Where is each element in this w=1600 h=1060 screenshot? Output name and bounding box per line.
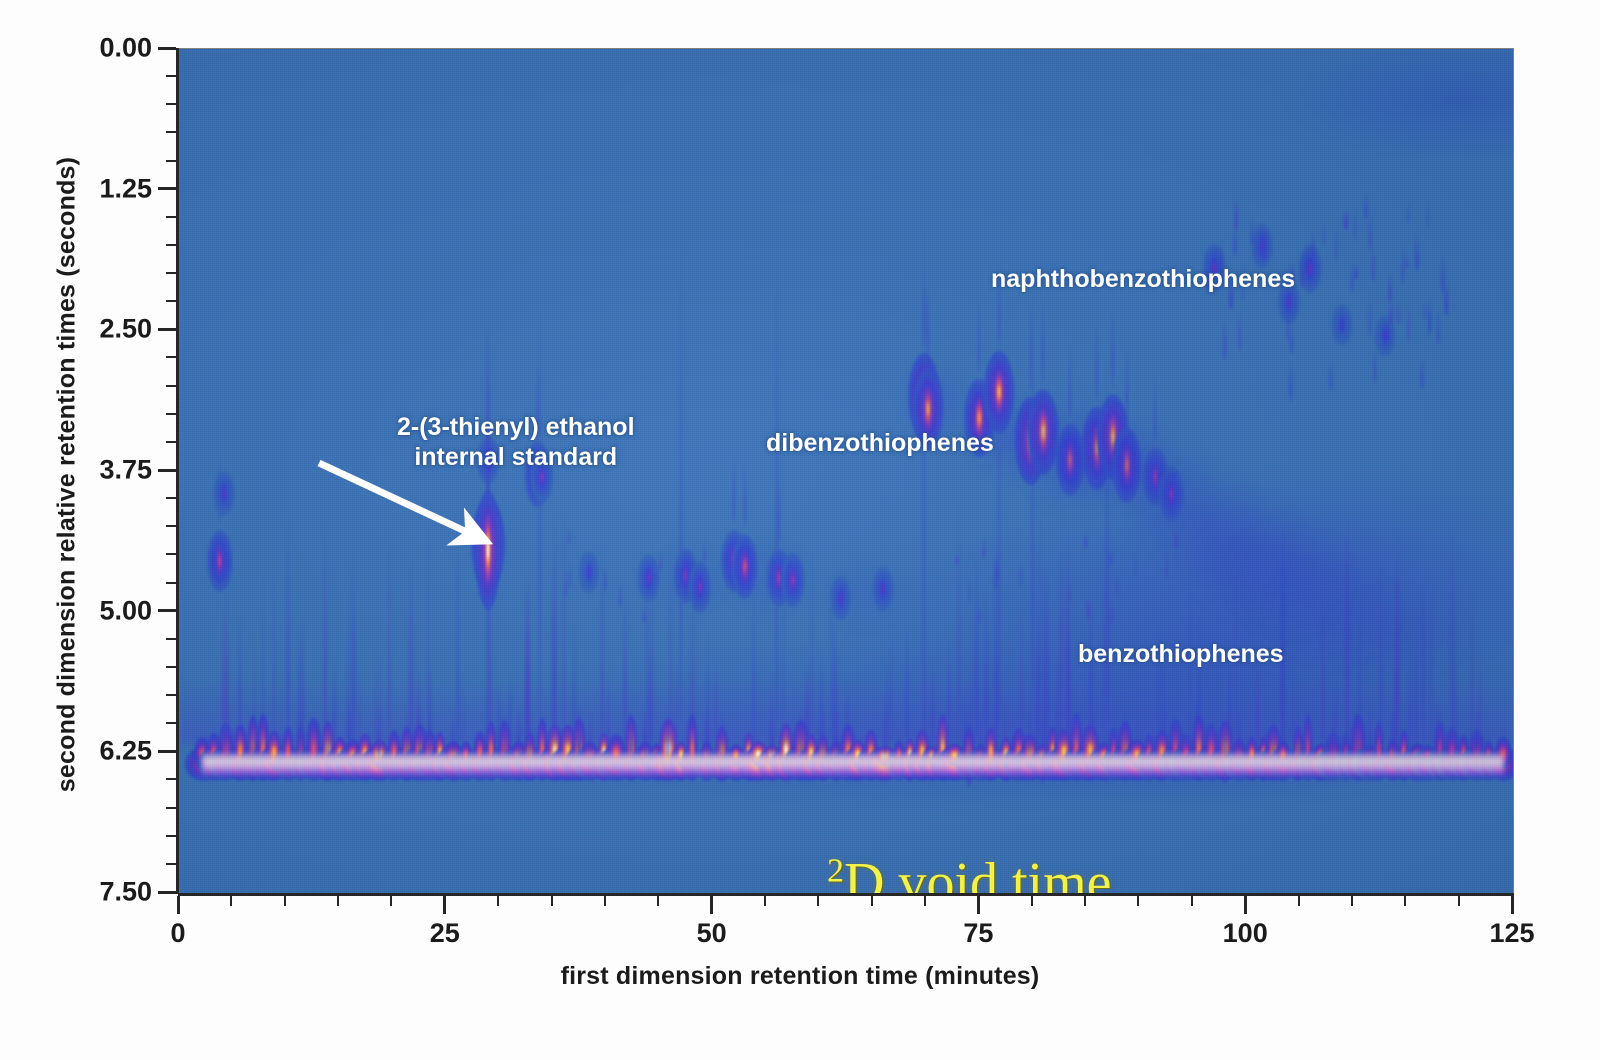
void-band-peak-base	[1253, 747, 1275, 781]
peak-tail-streak	[975, 542, 979, 750]
peak-tail-streak	[1028, 705, 1032, 769]
void-band-peak-base	[1297, 747, 1318, 781]
analyte-peak	[1258, 231, 1267, 261]
peak-tail-streak	[261, 566, 264, 750]
void-band-peak-base	[257, 747, 291, 781]
void-band-peak	[743, 732, 754, 770]
x-axis-minor-tick	[551, 896, 553, 906]
void-band-peak-base	[1304, 747, 1337, 781]
annotation-internal-standard: 2-(3-thienyl) ethanol internal standard	[397, 413, 635, 472]
peak-tail-streak	[1423, 299, 1427, 320]
void-band-peak-base	[1118, 747, 1156, 781]
peak-tail-streak	[485, 668, 489, 750]
peak-tail-streak	[1219, 241, 1223, 273]
peak-tail-streak	[1107, 493, 1111, 750]
peak-tail-streak	[553, 512, 556, 751]
peak-tail-streak	[1223, 706, 1228, 784]
peak-tail-streak	[963, 685, 967, 750]
peak-tail-streak	[1373, 349, 1376, 383]
x-axis-minor-tick	[337, 896, 339, 906]
void-band-peak	[1374, 721, 1384, 775]
peak-tail-streak	[997, 264, 1000, 344]
x-axis-tick-label: 0	[170, 918, 185, 949]
analyte-peak-halo	[524, 442, 551, 507]
peak-tail-streak	[882, 709, 886, 771]
peak-tail-streak	[1290, 261, 1295, 287]
void-band-peak-base	[1458, 747, 1495, 781]
analyte-peak-halo	[213, 471, 235, 516]
x-axis-minor-tick	[1031, 896, 1033, 906]
unresolved-cluster-blob	[902, 363, 972, 443]
peak-tail-streak	[1115, 572, 1118, 594]
analyte-peak-halo	[477, 436, 500, 484]
peak-tail-streak	[770, 658, 774, 750]
void-band-peak	[598, 732, 610, 771]
void-band-peak	[1458, 735, 1470, 770]
void-band-peak	[687, 714, 698, 778]
void-band-peak-base	[842, 747, 874, 781]
unresolved-cluster-blob	[1262, 557, 1402, 667]
void-band-peak-base	[1240, 747, 1263, 781]
peak-tail-streak	[810, 543, 814, 750]
y-axis-minor-tick	[166, 778, 176, 780]
analyte-peak	[584, 559, 593, 587]
peak-tail-streak	[1281, 514, 1285, 750]
figure-container: 2-(3-thienyl) ethanol internal standard …	[0, 0, 1600, 1060]
peak-tail-streak	[1109, 548, 1112, 565]
y-axis-major-tick	[158, 750, 176, 753]
void-band-peak-base	[489, 747, 520, 781]
void-band-peak-base	[1224, 747, 1254, 781]
analyte-peak	[1106, 409, 1119, 466]
peak-tail-streak	[416, 656, 420, 750]
void-band-peak-base	[758, 747, 786, 781]
void-band-peak-base	[994, 747, 1019, 781]
void-time-text: D void time	[844, 852, 1112, 894]
peak-tail-streak	[607, 675, 610, 750]
peak-tail-streak	[221, 609, 224, 751]
void-band-peak	[1361, 744, 1378, 766]
peak-tail-streak	[226, 626, 229, 750]
peak-tail-streak	[1478, 643, 1481, 750]
void-band-peak	[1232, 737, 1246, 769]
peak-tail-streak	[1083, 532, 1088, 548]
void-band-peak	[893, 740, 904, 767]
void-band-peak-base	[1486, 747, 1514, 781]
peak-tail-streak	[922, 219, 925, 724]
void-band-peak-base	[1102, 747, 1126, 781]
peak-tail-streak	[666, 706, 670, 769]
peak-tail-streak	[1019, 561, 1023, 587]
analyte-peak	[836, 583, 845, 613]
peak-tail-streak	[1393, 638, 1397, 750]
void-time-band	[179, 702, 1513, 798]
void-band-peak-base	[833, 747, 864, 781]
peak-tail-streak	[1069, 343, 1072, 417]
y-axis-minor-tick	[166, 413, 176, 415]
unresolved-cluster-blob	[1224, 518, 1354, 638]
annotation-internal-standard-line1: 2-(3-thienyl) ethanol	[397, 413, 635, 441]
analyte-peak	[537, 459, 547, 493]
void-band-peak-base	[1315, 747, 1351, 781]
void-band-peak-base	[1014, 747, 1047, 781]
void-band-peak-base	[1341, 747, 1374, 781]
peak-tail-streak	[1045, 559, 1048, 750]
x-axis-major-tick	[1511, 896, 1514, 914]
unresolved-cluster-blob	[1321, 584, 1471, 684]
y-axis-minor-tick	[166, 216, 176, 218]
peak-tail-streak	[1038, 492, 1041, 750]
analyte-peak	[739, 545, 750, 589]
peak-tail-streak	[805, 664, 809, 750]
void-band-peak	[422, 730, 438, 772]
peak-tail-streak	[686, 553, 691, 585]
analyte-peak	[917, 367, 930, 424]
void-band-peak-base	[564, 747, 593, 781]
y-axis-minor-tick	[166, 835, 176, 837]
void-band-peak	[1117, 721, 1132, 776]
void-band-peak	[473, 731, 486, 771]
peak-tail-streak	[577, 705, 582, 761]
peak-tail-streak	[572, 620, 576, 750]
void-band-peak	[266, 731, 282, 772]
peak-tail-streak	[429, 654, 432, 750]
analyte-peak-halo	[731, 534, 758, 599]
internal-standard-peak	[483, 507, 493, 593]
peak-tail-streak	[978, 294, 981, 372]
analyte-peak-halo	[1332, 304, 1353, 345]
void-band-peak-base	[782, 747, 820, 781]
peak-tail-streak	[845, 679, 849, 750]
peak-tail-streak	[1367, 709, 1371, 771]
peak-tail-streak	[238, 609, 242, 750]
peak-tail-streak	[1042, 300, 1045, 382]
analyte-peak	[774, 558, 785, 597]
x-axis-minor-tick	[497, 896, 499, 906]
unresolved-cluster-blob	[651, 543, 731, 613]
void-band-peak-base	[1040, 747, 1066, 781]
peak-tail-streak	[509, 670, 512, 751]
analyte-peak-halo	[637, 554, 660, 602]
void-band-peak-base	[435, 747, 472, 781]
void-band-peak	[1143, 734, 1155, 770]
peak-tail-streak	[714, 652, 718, 751]
peak-tail-streak	[408, 552, 413, 750]
peak-tail-streak	[1157, 617, 1162, 750]
void-band-peak	[460, 741, 472, 767]
peak-tail-streak	[645, 555, 648, 750]
x-axis-major-tick	[977, 896, 980, 914]
x-axis-minor-tick	[390, 896, 392, 906]
void-band-peak-base	[290, 747, 312, 781]
void-band-peak-base	[630, 747, 661, 781]
peak-tail-streak	[979, 708, 982, 774]
peak-tail-streak	[405, 709, 409, 771]
peak-tail-streak	[1233, 227, 1237, 256]
void-band-peak-base	[1195, 747, 1228, 781]
chromatogram-plot-area[interactable]: 2-(3-thienyl) ethanol internal standard …	[178, 48, 1514, 894]
void-band-peak	[1022, 734, 1038, 770]
peak-tail-streak	[997, 302, 1000, 724]
peak-tail-streak	[1296, 708, 1300, 777]
peak-tail-streak	[272, 562, 275, 750]
x-axis-minor-tick	[1084, 896, 1086, 906]
analyte-peak-halo	[780, 553, 804, 608]
void-band-peak	[388, 730, 401, 772]
void-band-peak-base	[809, 747, 835, 781]
peak-tail-streak	[1222, 317, 1227, 361]
peak-tail-streak	[299, 707, 303, 763]
peak-tail-streak	[1335, 677, 1338, 751]
y-axis-minor-tick	[166, 807, 176, 809]
analyte-peak	[1024, 411, 1038, 471]
peak-tail-streak	[781, 540, 784, 750]
void-band-peak-base	[956, 747, 982, 781]
peak-tail-streak	[983, 538, 986, 559]
y-axis-minor-tick	[166, 160, 176, 162]
peak-tail-streak	[1328, 359, 1332, 392]
void-band-peak	[779, 724, 794, 775]
void-band-peak-base	[966, 747, 995, 781]
peak-tail-streak	[250, 709, 255, 780]
peak-tail-streak	[1262, 222, 1267, 261]
peak-tail-streak	[619, 581, 622, 607]
void-band-peak	[1293, 726, 1303, 774]
peak-tail-streak	[323, 515, 327, 750]
void-band-peak	[247, 716, 259, 778]
peak-tail-streak	[1290, 325, 1294, 354]
vignette-overlay	[179, 49, 1513, 893]
void-band-peak	[1203, 723, 1219, 774]
peak-tail-streak	[820, 649, 823, 750]
void-band-peak	[864, 729, 878, 772]
peak-tail-streak	[286, 515, 291, 751]
analyte-peak-halo	[1203, 244, 1226, 292]
void-band-peak	[915, 729, 929, 772]
void-band-peak-base	[296, 747, 331, 781]
unresolved-cluster-blob	[817, 560, 907, 630]
void-time-band-layer	[179, 49, 1513, 893]
void-band-peak	[974, 745, 988, 767]
peak-tail-streak	[1090, 679, 1094, 750]
x-axis-minor-tick	[230, 896, 232, 906]
void-band-peak	[765, 744, 778, 766]
void-band-peak-base	[1136, 747, 1161, 781]
peak-tail-streak	[526, 584, 530, 751]
peak-tail-streak	[995, 638, 999, 750]
analyte-peak-halo	[1014, 396, 1047, 486]
void-band-peak-base	[466, 747, 494, 781]
void-band-peak	[1070, 713, 1083, 779]
analyte-peak-halo	[872, 567, 894, 612]
y-axis-tick-label: 0.00	[40, 33, 152, 64]
peak-tail-streak	[601, 538, 604, 751]
y-axis-major-tick	[158, 328, 176, 331]
x-axis-minor-tick	[657, 896, 659, 906]
peak-tail-streak	[969, 603, 973, 750]
void-band-peak	[905, 739, 915, 769]
peak-tail-streak	[707, 628, 710, 750]
void-band-peak	[875, 746, 893, 766]
x-axis-tick-label: 125	[1489, 918, 1534, 949]
peak-tail-streak	[1414, 233, 1419, 271]
void-band-peak	[1350, 713, 1366, 778]
peak-tail-streak	[1208, 266, 1212, 293]
y-axis-tick-label: 7.50	[40, 877, 152, 908]
y-axis-minor-tick	[166, 525, 176, 527]
peak-tail-streak	[1197, 672, 1202, 750]
void-band-peak-base	[695, 747, 719, 781]
peak-tail-streak	[1125, 345, 1128, 421]
peak-tail-streak	[1300, 256, 1304, 288]
y-axis-major-tick	[158, 609, 176, 612]
void-band-peak	[306, 718, 323, 777]
peak-tail-streak	[603, 565, 607, 593]
void-band-peak-base	[1063, 747, 1089, 781]
peak-tail-streak	[1067, 570, 1071, 750]
void-band-peak	[816, 735, 829, 770]
peak-tail-streak	[1354, 262, 1359, 280]
peak-tail-streak	[968, 575, 972, 604]
peak-tail-streak	[332, 653, 337, 750]
void-band-peak-base	[1001, 747, 1036, 781]
peak-tail-streak	[1450, 514, 1454, 750]
void-band-peak	[1483, 739, 1494, 768]
peak-tail-streak	[1436, 308, 1440, 344]
x-axis-tick-label: 100	[1223, 918, 1268, 949]
peak-tail-streak	[497, 683, 501, 750]
peak-tail-streak	[1428, 293, 1432, 336]
y-axis-minor-tick	[166, 385, 176, 387]
peak-tail-streak	[1420, 358, 1424, 388]
analyte-peak	[681, 557, 691, 594]
void-band-peak	[962, 726, 975, 773]
analyte-peak	[1166, 475, 1176, 512]
analyte-peak-halo	[908, 353, 940, 439]
peak-tail-streak	[1395, 558, 1399, 750]
peak-tail-streak	[1031, 266, 1034, 724]
void-band-peak	[343, 739, 361, 769]
void-band-peak	[651, 743, 663, 767]
y-axis-minor-tick	[166, 863, 176, 865]
void-band-peak-base	[856, 747, 886, 781]
peak-tail-streak	[325, 704, 330, 776]
void-band-peak	[400, 727, 413, 773]
y-axis-minor-tick	[166, 666, 176, 668]
peak-tail-streak	[1061, 501, 1064, 751]
void-band-peak	[792, 719, 810, 776]
analyte-peak-halo	[207, 530, 233, 592]
void-band-peak	[1246, 736, 1257, 769]
analyte-peak-halo	[1081, 407, 1112, 490]
peak-tail-streak	[705, 704, 710, 772]
peak-tail-streak	[800, 705, 803, 777]
peak-tail-streak	[689, 618, 692, 750]
analyte-peak-halo	[983, 351, 1014, 434]
peak-tail-streak	[947, 634, 950, 750]
void-band-peak	[1010, 728, 1026, 772]
void-band-peak	[1178, 733, 1195, 770]
void-band-peak-base	[359, 747, 398, 781]
void-band-peak	[607, 734, 626, 770]
peak-tail-streak	[347, 584, 350, 751]
void-band-peak-base	[1477, 747, 1499, 781]
peak-tail-streak	[1174, 529, 1178, 548]
void-band-peak	[411, 725, 428, 774]
y-axis-minor-tick	[166, 582, 176, 584]
void-band-peak	[1096, 742, 1111, 766]
peak-tail-streak	[358, 663, 361, 750]
peak-tail-streak	[460, 670, 464, 751]
x-axis-minor-tick	[604, 896, 606, 906]
unresolved-cluster-blob	[1063, 410, 1173, 510]
peak-tail-streak	[301, 608, 305, 750]
peak-tail-streak	[1162, 661, 1166, 750]
analyte-peak	[1338, 311, 1347, 339]
peak-tail-streak	[691, 580, 696, 750]
peak-tail-streak	[1067, 496, 1070, 750]
unresolved-cluster-blob	[1144, 462, 1264, 582]
void-band-peak-base	[413, 747, 446, 781]
void-band-peak-base	[381, 747, 408, 781]
annotation-void-time: 2D void time	[827, 851, 1112, 894]
void-band-peak-base	[865, 747, 904, 781]
peak-tail-streak	[1441, 254, 1446, 296]
peak-tail-streak	[890, 616, 893, 750]
peak-tail-streak	[1475, 707, 1479, 764]
void-band-peak	[985, 727, 997, 773]
peak-tail-streak	[218, 455, 221, 523]
x-axis-major-tick	[177, 896, 180, 914]
void-band-peak	[1108, 727, 1120, 773]
void-band-peak	[1341, 733, 1352, 770]
void-band-peak	[234, 724, 247, 773]
y-axis-minor-tick	[166, 497, 176, 499]
y-axis-minor-tick	[166, 553, 176, 555]
void-band-peak	[444, 741, 462, 768]
analyte-peak-halo	[674, 548, 698, 603]
void-band-peak	[1313, 743, 1329, 766]
baseline-haze	[179, 49, 1513, 893]
void-band-peak	[282, 726, 294, 773]
analyte-peak	[729, 540, 740, 581]
void-band-peak	[206, 733, 221, 771]
y-axis-minor-tick	[166, 722, 176, 724]
peak-tail-streak	[931, 657, 934, 750]
analyte-peak	[879, 574, 888, 604]
void-band-peak-base	[1335, 747, 1357, 781]
peak-tail-streak	[489, 569, 493, 750]
x-axis-tick-label: 50	[697, 918, 727, 949]
peak-tail-streak	[1134, 550, 1137, 576]
void-band-peak	[559, 725, 577, 774]
void-band-peak-base	[823, 747, 848, 781]
analyte-peak-halo	[721, 530, 747, 592]
y-axis-major-tick	[158, 187, 176, 190]
y-axis-major-tick	[158, 47, 176, 50]
void-band-peak	[1386, 739, 1399, 769]
peak-tail-streak	[1331, 709, 1335, 767]
peak-tail-streak	[552, 560, 557, 750]
peak-tail-streak	[1110, 600, 1115, 624]
peak-tail-streak	[297, 618, 301, 751]
peak-tail-streak	[568, 528, 571, 544]
peak-tail-streak	[1355, 706, 1360, 779]
analyte-peak-halo	[1027, 389, 1059, 475]
peak-tail-streak	[1238, 310, 1242, 350]
x-axis-major-tick	[443, 896, 446, 914]
peak-tail-streak	[1396, 300, 1400, 324]
